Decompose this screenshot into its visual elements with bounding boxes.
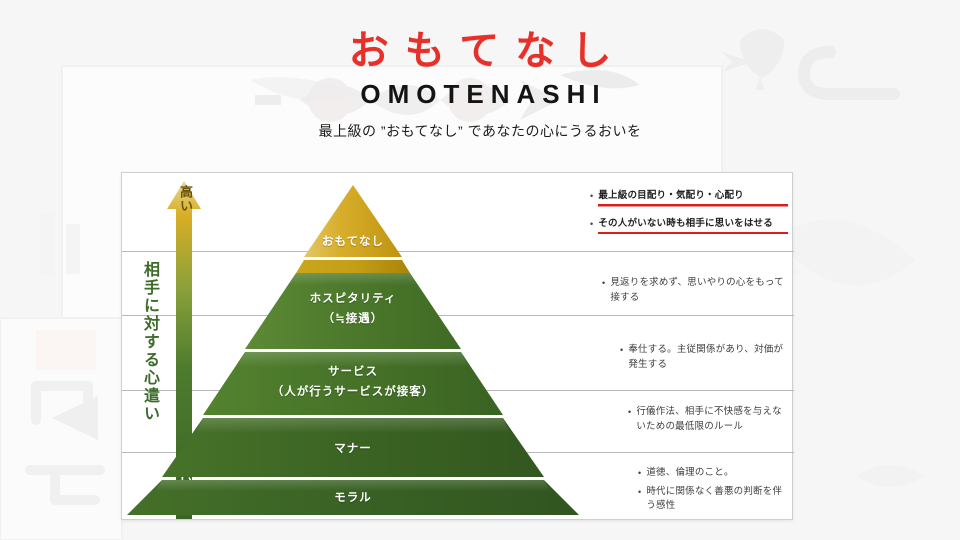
tier-label-manner: マナー — [268, 441, 438, 459]
annotation-text: その人がいない時も相手に思いをはせる — [598, 217, 788, 235]
bullet-icon: • — [620, 343, 623, 357]
tier-label-service: サービス — [233, 364, 473, 382]
annotation-omotenashi: • 最上級の目配り・気配り・心配り • その人がいない時も相手に思いをはせる — [580, 189, 794, 244]
header: おもてなし OMOTENASHI 最上級の ”おもてなし” であなたの心にうるお… — [0, 0, 960, 139]
page-title-romaji: OMOTENASHI — [0, 80, 960, 109]
annotation-manner: • 行儀作法、相手に不快感を与えないための最低限のルール — [580, 405, 794, 438]
tier-label-moral: モラル — [268, 490, 438, 508]
annotation-column: • 最上級の目配り・気配り・心配り • その人がいない時も相手に思いをはせる •… — [580, 173, 794, 521]
page-subtitle: 最上級の ”おもてなし” であなたの心にうるおいを — [0, 123, 960, 140]
omotenashi-pyramid: おもてなし ホスピタリティ （≒接遇） サービス （人が行うサービスが接客） マ… — [122, 179, 592, 521]
annotation-line: • その人がいない時も相手に思いをはせる — [590, 217, 788, 235]
annotation-moral: • 道徳、倫理のこと。 • 時代に関係なく善悪の判断を伴う感性 — [580, 466, 794, 518]
bullet-icon: • — [638, 485, 641, 499]
bullet-icon: • — [628, 405, 631, 419]
annotation-line: • 最上級の目配り・気配り・心配り — [590, 189, 788, 207]
annotation-line: • 行儀作法、相手に不快感を与えないための最低限のルール — [628, 405, 788, 434]
tier-sublabel-hospitality: （≒接遇） — [268, 311, 438, 329]
bullet-icon: • — [590, 189, 593, 203]
tier-label-omotenashi: おもてなし — [268, 234, 438, 252]
annotation-text: 行儀作法、相手に不快感を与えないための最低限のルール — [636, 405, 788, 434]
tier-label-hospitality: ホスピタリティ — [268, 291, 438, 309]
bullet-icon: • — [638, 466, 641, 480]
annotation-text: 奉仕する。主従関係があり、対価が発生する — [628, 343, 788, 372]
tier-sublabel-service: （人が行うサービスが接客） — [233, 384, 473, 402]
annotation-text: 時代に関係なく善悪の判断を伴う感性 — [646, 485, 788, 514]
annotation-line: • 奉仕する。主従関係があり、対価が発生する — [620, 343, 788, 372]
annotation-line: • 時代に関係なく善悪の判断を伴う感性 — [638, 485, 788, 514]
annotation-text: 最上級の目配り・気配り・心配り — [598, 189, 788, 207]
annotation-line: • 道徳、倫理のこと。 — [638, 466, 788, 481]
annotation-service: • 奉仕する。主従関係があり、対価が発生する — [580, 343, 794, 376]
annotation-text: 道徳、倫理のこと。 — [646, 466, 788, 481]
bullet-icon: • — [602, 276, 605, 290]
page-title-japanese: おもてなし — [0, 30, 960, 72]
annotation-text: 見返りを求めず、思いやりの心をもって接する — [610, 276, 788, 305]
annotation-line: • 見返りを求めず、思いやりの心をもって接する — [602, 276, 788, 305]
pyramid-diagram-card: 相手に対する心遣い 高い 低い — [121, 172, 793, 520]
slide-canvas: おもてなし OMOTENASHI 最上級の ”おもてなし” であなたの心にうるお… — [0, 0, 960, 540]
annotation-hospitality: • 見返りを求めず、思いやりの心をもって接する — [580, 276, 794, 309]
bullet-icon: • — [590, 217, 593, 231]
